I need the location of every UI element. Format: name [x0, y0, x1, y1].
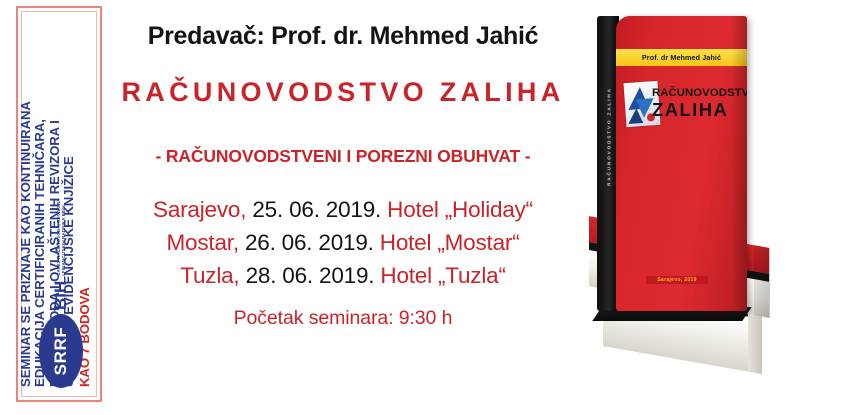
start-time-line: Početak seminara: 9:30 h: [234, 307, 453, 330]
srrf-logo: SRRF BiH SAVEZ RAČUNOVOĐA, REVIZORA I FI…: [18, 236, 104, 388]
event-venue: Hotel „Tuzla“: [380, 263, 505, 288]
book-author-band: Prof. dr Mehmed Jahić: [616, 49, 747, 66]
event-row: Tuzla, 28. 06. 2019. Hotel „Tuzla“: [153, 263, 533, 289]
event-venue: Hotel „Holiday“: [387, 197, 533, 222]
event-date: 28. 06. 2019.: [246, 263, 375, 288]
book-spine-text: RAČUNOVODSTVO ZALIHA: [607, 67, 612, 207]
srrf-logo-subtitle-line-2: I FINANCIJSKIH RADNIKA FBiH: [61, 198, 66, 275]
lecturer-line: Predavač: Prof. dr. Mehmed Jahić: [148, 22, 539, 51]
event-row: Sarajevo, 25. 06. 2019. Hotel „Holiday“: [153, 197, 533, 223]
event-date: 26. 06. 2019.: [245, 230, 374, 255]
event-city: Sarajevo,: [153, 197, 246, 222]
event-row: Mostar, 26. 06. 2019. Hotel „Mostar“: [153, 230, 533, 256]
stacked-book-top-edge: [754, 245, 770, 318]
seminar-banner: SEMINAR SE PRIZNAJE KAO KONTINUIRANA EDU…: [0, 0, 852, 415]
event-city: Tuzla,: [180, 263, 239, 288]
srrf-logo-subtitle: SAVEZ RAČUNOVOĐA, REVIZORA I FINANCIJSKI…: [56, 198, 66, 275]
event-venue: Hotel „Mostar“: [380, 230, 520, 255]
stacked-book-bottom-edge: [748, 310, 762, 374]
book-artwork: RAČUNOVODSTVO ZALIHA RAČUNOVODSTVO ZALIH…: [575, 0, 852, 415]
srrf-logo-suffix: BiH: [51, 281, 71, 310]
page-title: RAČUNOVODSTVO ZALIHA: [122, 77, 565, 108]
srrf-logo-mark: SRRF: [39, 314, 83, 388]
book-publication-place-year: Sarajevo, 2019: [657, 277, 697, 283]
standing-book: RAČUNOVODSTVO ZALIHA Prof. dr Mehmed Jah…: [597, 16, 747, 311]
event-date: 25. 06. 2019.: [252, 197, 381, 222]
book-author-name: Prof. dr Mehmed Jahić: [642, 53, 721, 62]
graphic-triangle-c-icon: [627, 108, 643, 124]
event-list: Sarajevo, 25. 06. 2019. Hotel „Holiday“ …: [153, 197, 533, 289]
book-cover-gloss: [731, 16, 747, 311]
main-content: Predavač: Prof. dr. Mehmed Jahić RAČUNOV…: [108, 0, 578, 415]
accreditation-box: SEMINAR SE PRIZNAJE KAO KONTINUIRANA EDU…: [16, 6, 102, 402]
page-subtitle: - RAČUNOVODSTVENI I POREZNI OBUHVAT -: [156, 146, 531, 167]
event-city: Mostar,: [167, 230, 239, 255]
book-front-cover: Prof. dr Mehmed Jahić RAČUNOVODSTVO ZALI…: [616, 16, 747, 311]
book-footer-band: Sarajevo, 2019: [646, 276, 708, 284]
